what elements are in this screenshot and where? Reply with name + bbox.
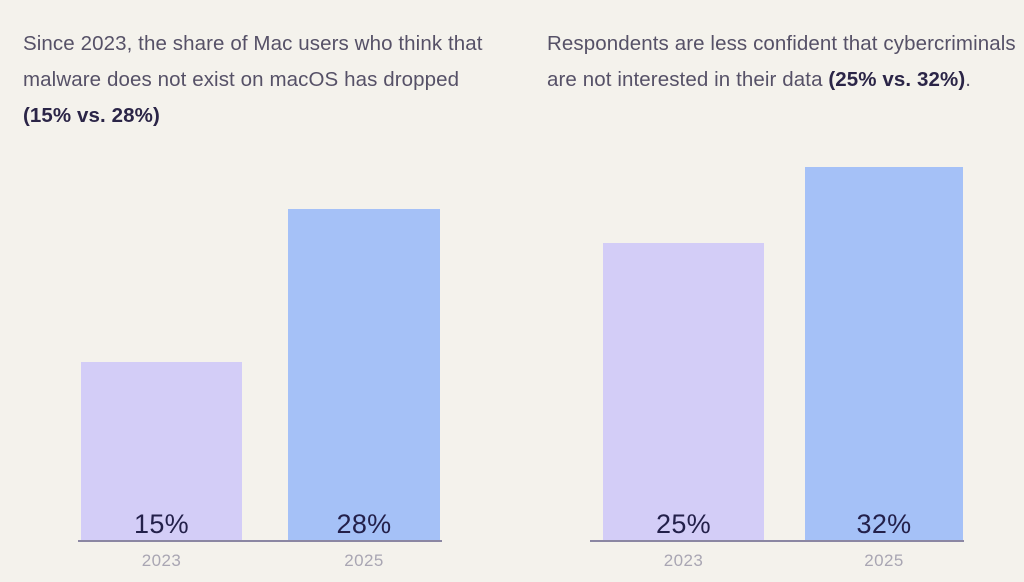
bar-value-2023: 15% [81,509,242,540]
bar-chart-cybercriminals: 25% 32% 2023 2025 [512,0,1024,582]
x-axis-line [590,540,964,542]
bar-value-2023: 25% [603,509,764,540]
chart-panels: Since 2023, the share of Mac users who t… [0,0,1024,582]
bar-value-2025: 32% [805,509,963,540]
bar-value-2025: 28% [288,509,440,540]
bar-chart-malware: 15% 28% 2023 2025 [0,0,512,582]
bar-2025 [805,167,963,540]
chart-panel-malware: Since 2023, the share of Mac users who t… [0,0,512,582]
bar-2025 [288,209,440,540]
x-axis-line [78,540,442,542]
x-tick-label-2025: 2025 [805,551,963,571]
chart-panel-cybercriminals: Respondents are less confident that cybe… [512,0,1024,582]
bar-2023 [603,243,764,540]
x-tick-label-2023: 2023 [81,551,242,571]
x-tick-label-2025: 2025 [288,551,440,571]
x-tick-label-2023: 2023 [603,551,764,571]
